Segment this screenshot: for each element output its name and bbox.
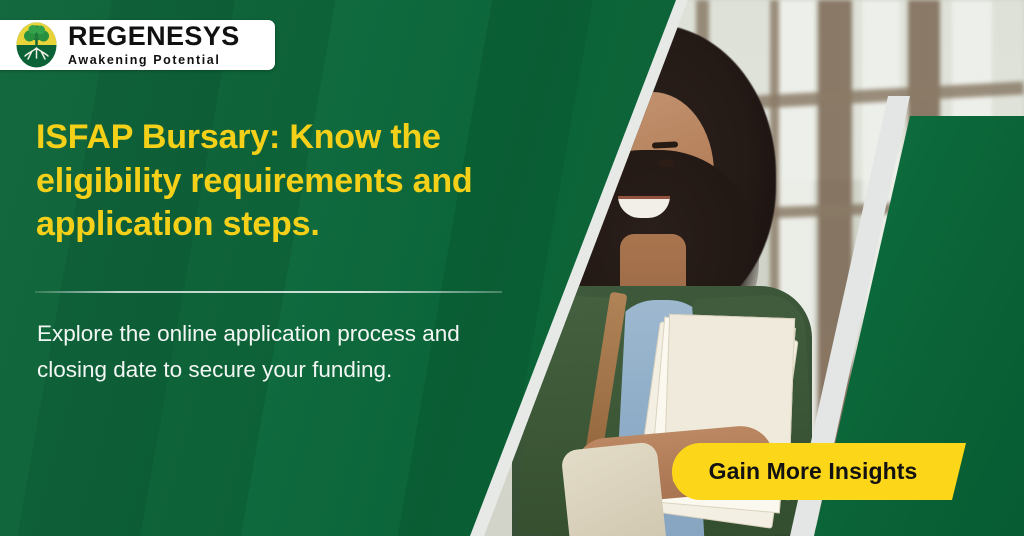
brand-tagline: Awakening Potential <box>68 54 240 67</box>
tree-in-oval-icon <box>16 22 57 68</box>
brand-name: REGENESYS <box>68 23 240 50</box>
promo-banner: REGENESYS Awakening Potential ISFAP Burs… <box>0 0 1024 536</box>
brand-logo[interactable]: REGENESYS Awakening Potential <box>0 20 275 70</box>
cta-label[interactable]: Gain More Insights <box>672 443 966 500</box>
headline: ISFAP Bursary: Know the eligibility requ… <box>36 116 566 247</box>
subcopy: Explore the online application process a… <box>37 316 467 388</box>
divider-line <box>35 291 502 293</box>
